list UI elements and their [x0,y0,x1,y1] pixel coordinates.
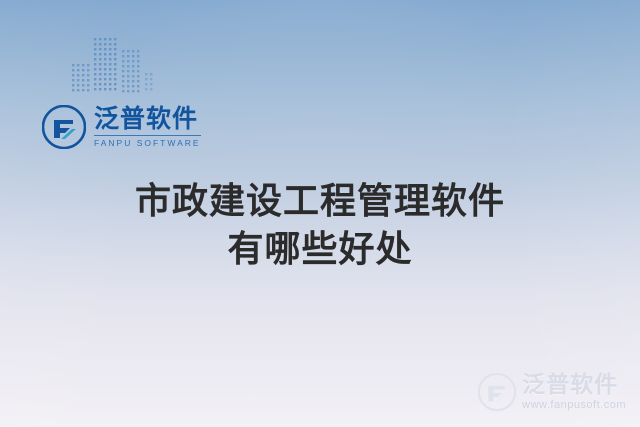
watermark: 泛普软件 www.fanpusoft.com [478,373,626,411]
page-title: 市政建设工程管理软件 有哪些好处 [0,178,640,273]
brand-name-en: FANPU SOFTWARE [94,135,201,148]
brand-name-cn: 泛普软件 [94,106,201,132]
page-title-line-1: 市政建设工程管理软件 [0,178,640,226]
watermark-url: www.fanpusoft.com [522,399,626,411]
watermark-text: 泛普软件 www.fanpusoft.com [522,373,626,411]
brand-logo: 泛普软件 FANPU SOFTWARE [42,105,201,149]
dotted-building-icon [70,28,178,98]
fanpu-f-mark-icon [478,373,516,411]
brand-logo-text: 泛普软件 FANPU SOFTWARE [94,106,201,148]
watermark-name-cn: 泛普软件 [522,373,626,398]
fanpu-f-mark-icon [42,105,86,149]
page-title-line-2: 有哪些好处 [0,226,640,274]
poster-canvas: 泛普软件 FANPU SOFTWARE 市政建设工程管理软件 有哪些好处 泛普软… [0,0,640,427]
